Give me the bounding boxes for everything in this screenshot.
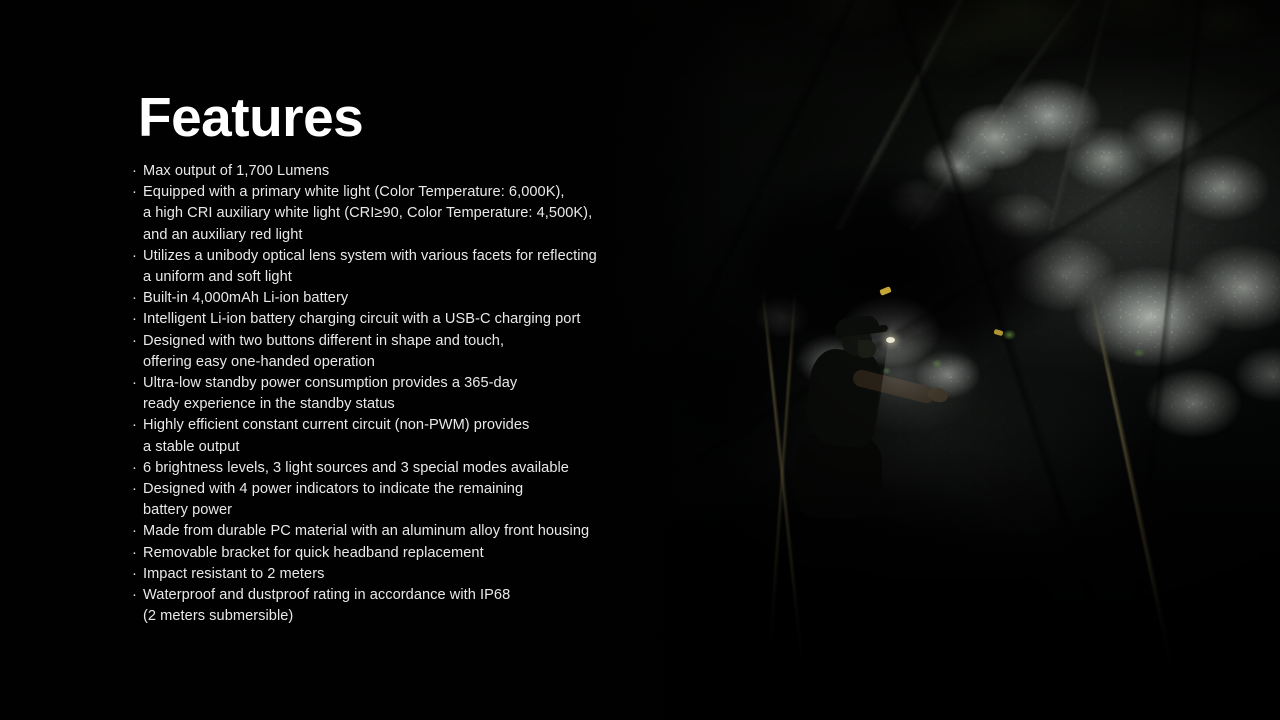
feature-item: ·Designed with two buttons different in … bbox=[132, 331, 652, 373]
feature-line-primary: ·Built-in 4,000mAh Li-ion battery bbox=[132, 288, 652, 309]
feature-line-text: Ultra-low standby power consumption prov… bbox=[143, 375, 517, 391]
feature-line-primary: ·Max output of 1,700 Lumens bbox=[132, 161, 652, 182]
feature-line-primary: ·Equipped with a primary white light (Co… bbox=[132, 182, 652, 203]
feature-line-text: Designed with two buttons different in s… bbox=[143, 333, 504, 349]
feature-line-text: and an auxiliary red light bbox=[143, 227, 303, 243]
feature-line-primary: ·Ultra-low standby power consumption pro… bbox=[132, 373, 652, 394]
feature-line-primary: ·Impact resistant to 2 meters bbox=[132, 564, 652, 585]
feature-line-text: (2 meters submersible) bbox=[143, 608, 293, 624]
feature-line-text: offering easy one-handed operation bbox=[143, 354, 375, 370]
night-climbing-photo bbox=[558, 0, 1280, 720]
feature-line-text: Removable bracket for quick headband rep… bbox=[143, 545, 484, 561]
feature-line-text: Impact resistant to 2 meters bbox=[143, 566, 324, 582]
bullet-dot-icon: · bbox=[132, 288, 143, 309]
feature-line-continuation: a uniform and soft light bbox=[132, 267, 652, 288]
feature-item: ·Impact resistant to 2 meters bbox=[132, 564, 652, 585]
feature-item: ·Removable bracket for quick headband re… bbox=[132, 543, 652, 564]
bullet-dot-icon: · bbox=[132, 309, 143, 330]
feature-item: ·Designed with 4 power indicators to ind… bbox=[132, 479, 652, 521]
feature-item: ·Highly efficient constant current circu… bbox=[132, 415, 652, 457]
feature-line-text: Utilizes a unibody optical lens system w… bbox=[143, 248, 597, 264]
bullet-dot-icon: · bbox=[132, 415, 143, 436]
feature-line-primary: ·Designed with two buttons different in … bbox=[132, 331, 652, 352]
feature-line-text: Built-in 4,000mAh Li-ion battery bbox=[143, 290, 348, 306]
feature-line-primary: ·Intelligent Li-ion battery charging cir… bbox=[132, 309, 652, 330]
bullet-dot-icon: · bbox=[132, 182, 143, 203]
feature-line-text: Waterproof and dustproof rating in accor… bbox=[143, 587, 510, 603]
feature-line-primary: ·Waterproof and dustproof rating in acco… bbox=[132, 585, 652, 606]
feature-line-continuation: (2 meters submersible) bbox=[132, 606, 652, 627]
bullet-dot-icon: · bbox=[132, 521, 143, 542]
feature-item: ·Ultra-low standby power consumption pro… bbox=[132, 373, 652, 415]
feature-line-text: a stable output bbox=[143, 439, 240, 455]
feature-item: ·Made from durable PC material with an a… bbox=[132, 521, 652, 542]
feature-item: ·6 brightness levels, 3 light sources an… bbox=[132, 458, 652, 479]
feature-line-primary: ·Designed with 4 power indicators to ind… bbox=[132, 479, 652, 500]
feature-line-primary: ·Removable bracket for quick headband re… bbox=[132, 543, 652, 564]
feature-line-continuation: battery power bbox=[132, 500, 652, 521]
feature-line-text: Highly efficient constant current circui… bbox=[143, 417, 529, 433]
bullet-dot-icon: · bbox=[132, 331, 143, 352]
feature-line-text: a uniform and soft light bbox=[143, 269, 292, 285]
feature-item: ·Equipped with a primary white light (Co… bbox=[132, 182, 652, 246]
bullet-dot-icon: · bbox=[132, 543, 143, 564]
bullet-dot-icon: · bbox=[132, 479, 143, 500]
features-slide: Features ·Max output of 1,700 Lumens·Equ… bbox=[0, 0, 1280, 720]
feature-line-continuation: ready experience in the standby status bbox=[132, 394, 652, 415]
feature-line-text: Intelligent Li-ion battery charging circ… bbox=[143, 311, 580, 327]
feature-line-text: Equipped with a primary white light (Col… bbox=[143, 184, 565, 200]
feature-line-text: ready experience in the standby status bbox=[143, 396, 395, 412]
feature-line-text: a high CRI auxiliary white light (CRI≥90… bbox=[143, 205, 592, 221]
bullet-dot-icon: · bbox=[132, 585, 143, 606]
feature-item: ·Built-in 4,000mAh Li-ion battery bbox=[132, 288, 652, 309]
feature-item: ·Intelligent Li-ion battery charging cir… bbox=[132, 309, 652, 330]
feature-line-continuation: a stable output bbox=[132, 437, 652, 458]
page-title: Features bbox=[138, 90, 363, 145]
text-panel: Features ·Max output of 1,700 Lumens·Equ… bbox=[0, 0, 660, 720]
feature-item: ·Waterproof and dustproof rating in acco… bbox=[132, 585, 652, 627]
feature-list: ·Max output of 1,700 Lumens·Equipped wit… bbox=[132, 161, 652, 627]
feature-line-text: Made from durable PC material with an al… bbox=[143, 523, 589, 539]
bullet-dot-icon: · bbox=[132, 373, 143, 394]
feature-line-text: Designed with 4 power indicators to indi… bbox=[143, 481, 523, 497]
feature-line-text: battery power bbox=[143, 502, 232, 518]
feature-item: ·Max output of 1,700 Lumens bbox=[132, 161, 652, 182]
bullet-dot-icon: · bbox=[132, 458, 143, 479]
feature-line-text: Max output of 1,700 Lumens bbox=[143, 163, 329, 179]
bullet-dot-icon: · bbox=[132, 246, 143, 267]
feature-line-text: 6 brightness levels, 3 light sources and… bbox=[143, 460, 569, 476]
bullet-dot-icon: · bbox=[132, 564, 143, 585]
feature-line-primary: ·6 brightness levels, 3 light sources an… bbox=[132, 458, 652, 479]
feature-line-continuation: and an auxiliary red light bbox=[132, 225, 652, 246]
feature-item: ·Utilizes a unibody optical lens system … bbox=[132, 246, 652, 288]
bullet-dot-icon: · bbox=[132, 161, 143, 182]
feature-line-primary: ·Made from durable PC material with an a… bbox=[132, 521, 652, 542]
feature-line-continuation: a high CRI auxiliary white light (CRI≥90… bbox=[132, 203, 652, 224]
feature-line-continuation: offering easy one-handed operation bbox=[132, 352, 652, 373]
feature-line-primary: ·Highly efficient constant current circu… bbox=[132, 415, 652, 436]
feature-line-primary: ·Utilizes a unibody optical lens system … bbox=[132, 246, 652, 267]
